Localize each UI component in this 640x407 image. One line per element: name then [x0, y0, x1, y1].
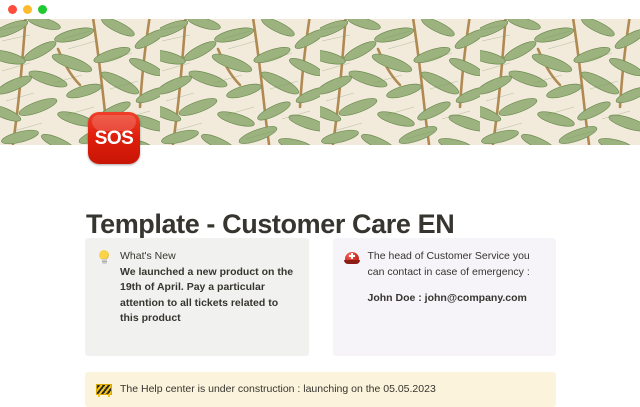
- callout-help-center-text: The Help center is under construction : …: [120, 382, 436, 398]
- rescue-worker-helmet-icon: [344, 250, 360, 266]
- lightbulb-icon: [96, 250, 112, 266]
- callout-spacer: [368, 280, 545, 291]
- icon-gloss: [92, 115, 136, 131]
- callout-whats-new[interactable]: What's New We launched a new product on …: [85, 238, 309, 356]
- callout-whats-new-lead: What's New: [120, 249, 297, 265]
- callout-help-center-lead: The Help center is under construction : …: [120, 382, 436, 398]
- window-minimize-button[interactable]: [23, 5, 32, 14]
- callout-whats-new-body: We launched a new product on the 19th of…: [120, 265, 297, 327]
- callout-emergency-contact[interactable]: The head of Customer Service you can con…: [333, 238, 557, 356]
- callout-whats-new-text: What's New We launched a new product on …: [120, 249, 297, 327]
- window-titlebar: [0, 0, 640, 19]
- construction-icon: [96, 382, 112, 398]
- callout-emergency-body: John Doe : john@company.com: [368, 291, 545, 307]
- page-body: Template - Customer Care EN What's New W…: [0, 145, 640, 400]
- callout-help-center-status[interactable]: The Help center is under construction : …: [85, 372, 556, 407]
- callout-row: What's New We launched a new product on …: [85, 238, 556, 356]
- sos-emoji-label: SOS: [95, 129, 134, 148]
- page-title[interactable]: Template - Customer Care EN: [86, 209, 454, 240]
- callout-emergency-lead: The head of Customer Service you can con…: [368, 249, 545, 280]
- window-maximize-button[interactable]: [38, 5, 47, 14]
- callout-emergency-text: The head of Customer Service you can con…: [368, 249, 545, 307]
- sos-emoji-icon[interactable]: SOS: [88, 112, 140, 164]
- window-close-button[interactable]: [8, 5, 17, 14]
